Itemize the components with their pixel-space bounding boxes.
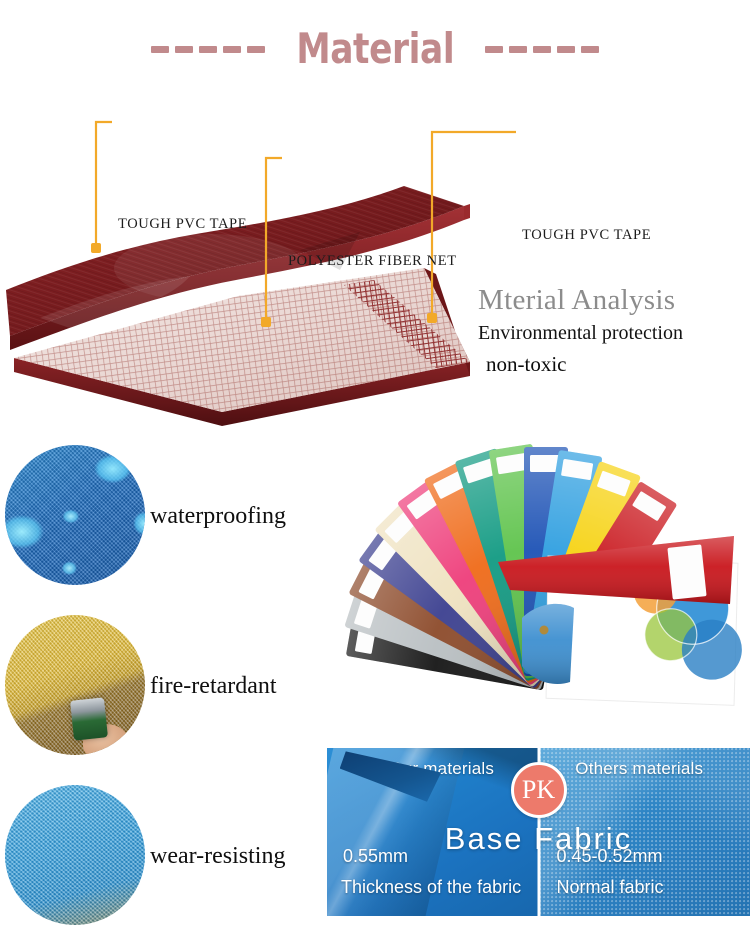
page-title-bar: Material (0, 28, 750, 70)
callout-label-polyester-fiber-net: POLYESTER FIBER NET (288, 253, 457, 270)
yellow-tarp-flame-icon (5, 615, 145, 755)
pk-badge: PK (511, 762, 567, 818)
blue-textured-fabric-icon (5, 785, 145, 925)
analysis-heading: Mterial Analysis (478, 285, 750, 315)
wear-resisting-photo (5, 785, 145, 925)
pk-right-caption: Normal fabric (557, 877, 664, 898)
callout-label-tough-pvc-tape-top: TOUGH PVC TAPE (118, 216, 247, 233)
pk-left-column-title: Our materials (327, 759, 539, 779)
pk-panel-others-materials: Others materials 0.45-0.52mm Normal fabr… (539, 748, 750, 916)
feature-label-fire-retardant: fire-retardant (150, 673, 277, 700)
page-title: Material (296, 28, 454, 70)
material-infographic-page: Material (0, 0, 750, 950)
analysis-line-environmental: Environmental protection (478, 322, 750, 344)
pk-panel-our-materials: Our materials 0.55mm Thickness of the fa… (327, 748, 539, 916)
material-cross-section-diagram: TOUGH PVC TAPE POLYESTER FIBER NET TOUGH… (0, 100, 750, 430)
analysis-line-non-toxic: non-toxic (486, 353, 750, 376)
pk-right-thickness-value: 0.45-0.52mm (557, 846, 663, 867)
pk-left-thickness-value: 0.55mm (343, 846, 408, 867)
callout-label-tough-pvc-tape-back: TOUGH PVC TAPE (522, 227, 651, 244)
material-analysis-text: Mterial Analysis Environmental protectio… (478, 285, 750, 377)
fire-retardant-photo (5, 615, 145, 755)
feature-waterproofing: waterproofing (0, 445, 340, 595)
pk-badge-label: PK (522, 777, 555, 803)
pk-left-caption: Thickness of the fabric (341, 877, 521, 898)
color-swatch-fan-deck (330, 440, 750, 740)
pk-right-column-title: Others materials (539, 759, 750, 779)
feature-label-wear-resisting: wear-resisting (150, 843, 285, 870)
pk-comparison-panel: Our materials 0.55mm Thickness of the fa… (327, 748, 750, 916)
title-dash-left (151, 46, 265, 53)
feature-fire-retardant: fire-retardant (0, 615, 340, 765)
blue-fabric-water-droplets-icon (5, 445, 145, 585)
feature-wear-resisting: wear-resisting (0, 785, 340, 935)
waterproofing-photo (5, 445, 145, 585)
feature-label-waterproofing: waterproofing (150, 503, 286, 530)
swatch-fan-illustration (330, 440, 750, 740)
sample-card-blue-flap (522, 604, 574, 684)
title-dash-right (485, 46, 599, 53)
